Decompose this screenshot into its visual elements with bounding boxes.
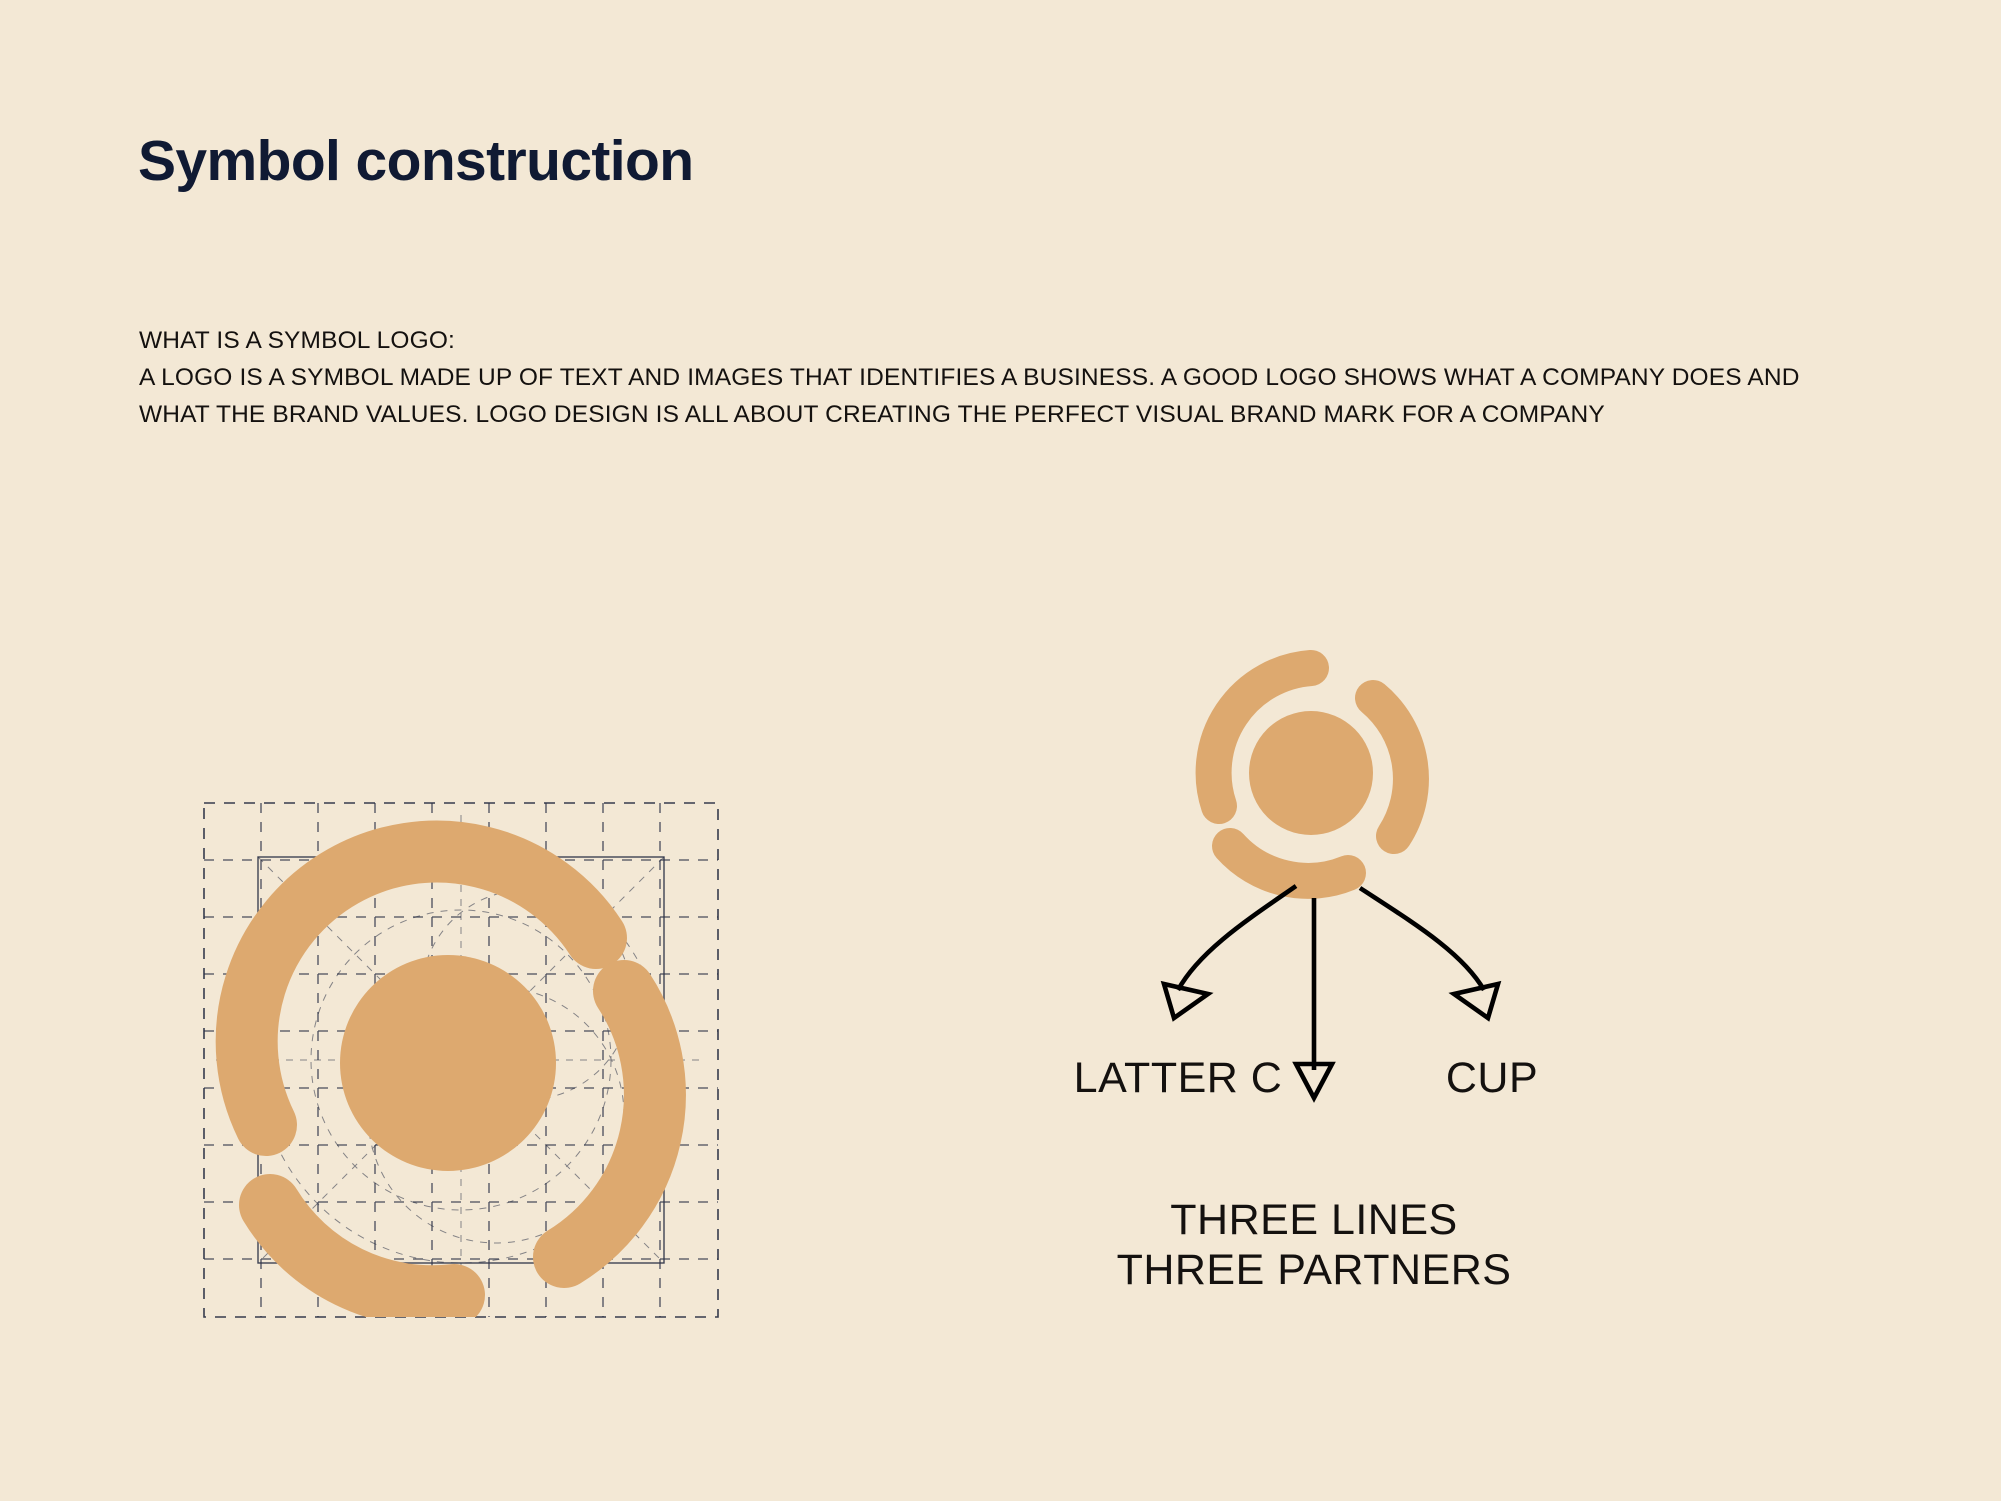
symbol-center-disc <box>1249 711 1373 835</box>
logo-arc-lower-left <box>270 1205 454 1296</box>
description-body: A LOGO IS A SYMBOL MADE UP OF TEXT AND I… <box>139 359 1851 433</box>
arrowhead-latter-c <box>1164 984 1208 1018</box>
arrowhead-cup <box>1454 984 1498 1018</box>
callout-label-latter-c: LATTER C <box>1074 1054 1283 1102</box>
callout-label-three-lines: THREE LINES <box>1170 1196 1457 1244</box>
arrow-line-latter-c <box>1178 886 1296 990</box>
symbol-arc-lower <box>1230 846 1348 881</box>
logo-center-disc <box>340 955 556 1171</box>
construction-logo-artwork <box>247 852 655 1297</box>
logo-construction-grid <box>196 795 726 1325</box>
symbol-callout-panel: LATTER C THREE LINES THREE PARTNERS CUP <box>1060 650 1880 1440</box>
callout-label-cup: CUP <box>1446 1054 1538 1102</box>
symbol-logo-mark <box>1214 668 1411 881</box>
callout-arrows <box>1178 886 1484 1070</box>
symbol-arc-right <box>1373 698 1411 836</box>
description-block: WHAT IS A SYMBOL LOGO: A LOGO IS A SYMBO… <box>139 322 1859 434</box>
page-title: Symbol construction <box>138 132 693 192</box>
description-heading: WHAT IS A SYMBOL LOGO: <box>139 322 1859 359</box>
callout-label-three-partners: THREE PARTNERS <box>1117 1246 1512 1294</box>
arrow-line-cup <box>1360 888 1484 990</box>
